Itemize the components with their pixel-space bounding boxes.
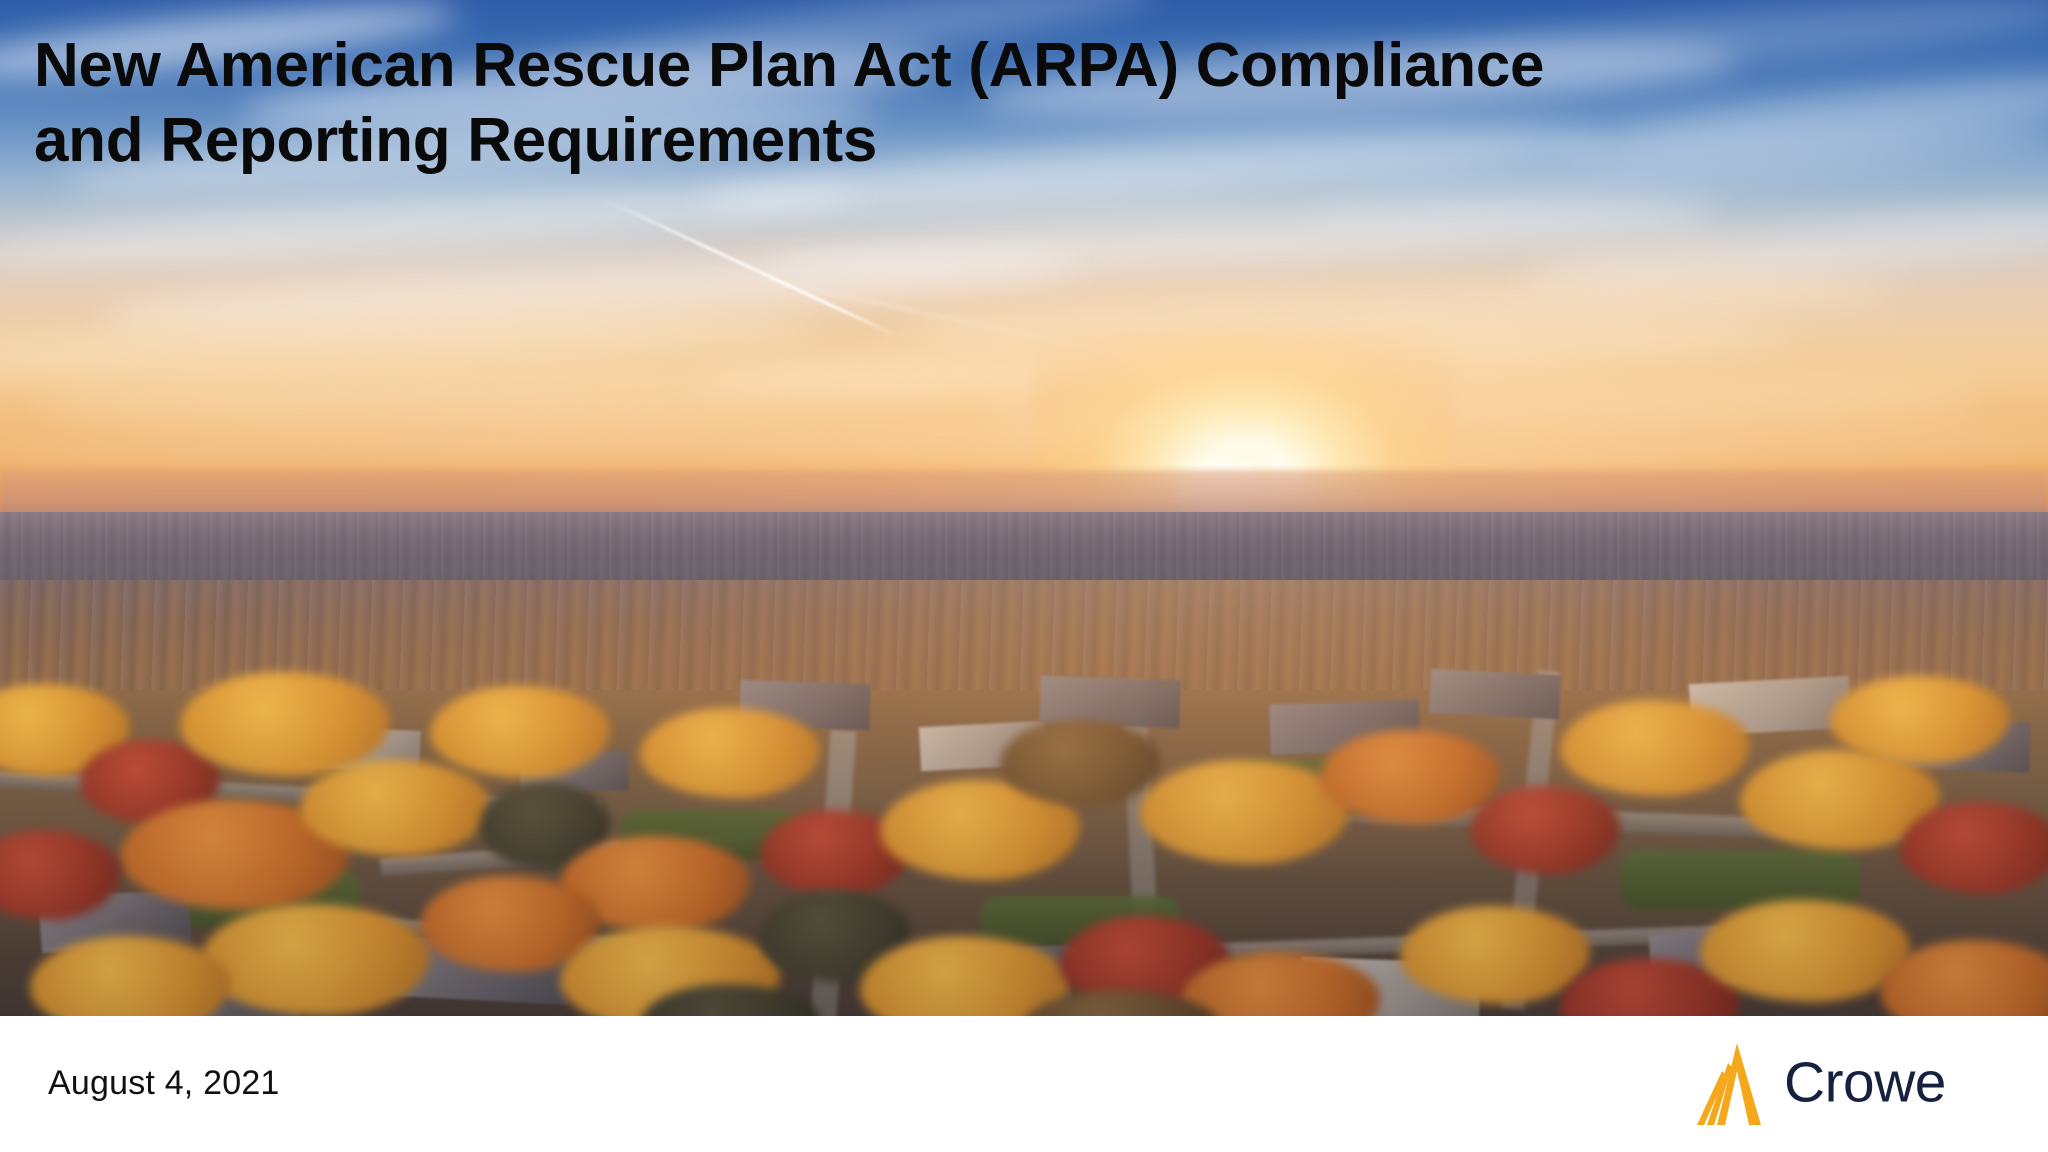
crowe-logo[interactable]: Crowe (1692, 1036, 2022, 1132)
page-title: New American Rescue Plan Act (ARPA) Comp… (34, 28, 1594, 178)
crowe-chevron-icon (1692, 1041, 1770, 1127)
svg-text:Crowe: Crowe (1784, 1051, 1946, 1114)
title-slide: New American Rescue Plan Act (ARPA) Comp… (0, 0, 2048, 1152)
footer-bar: August 4, 2021 Crowe (0, 1016, 2048, 1152)
crowe-wordmark: Crowe (1784, 1051, 2022, 1117)
suburban-neighborhood (0, 690, 2048, 1016)
presentation-date: August 4, 2021 (48, 1064, 280, 1103)
hero-photo: New American Rescue Plan Act (ARPA) Comp… (0, 0, 2048, 1016)
